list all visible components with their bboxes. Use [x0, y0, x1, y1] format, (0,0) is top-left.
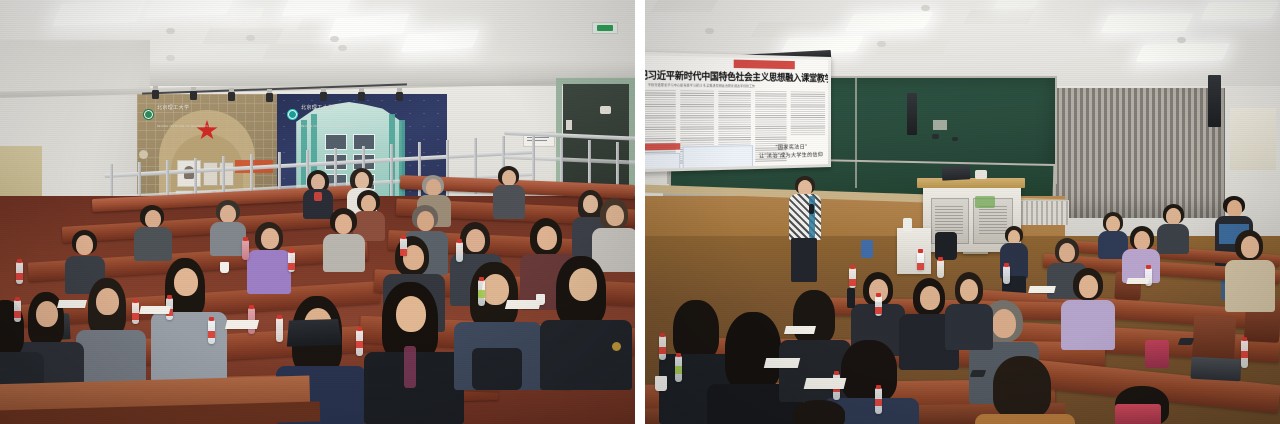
- university-logo-beige: 北京理工大学 BEIJING INSTITUTE OF TECHNOLOGY: [143, 96, 211, 132]
- security-camera-icon: [952, 137, 958, 141]
- ceiling-light-panel: [1136, 43, 1231, 61]
- university-logo-blue: 北京理工大学 BEIJING INSTITUTE OF TECHNOLOGY: [287, 96, 355, 132]
- newspaper-caption: "国家宪法日" 让"法治"成为大学生的信仰: [759, 144, 823, 161]
- water-bottle: [659, 336, 666, 360]
- spotlight-icon: [228, 92, 235, 101]
- laptop: [287, 319, 342, 347]
- right-photo-lecture-speaker: 把习近平新时代中国特色社会主义思想融入课堂教学 学校党委理论学习中心组专题学习研…: [645, 0, 1280, 424]
- notebook-paper: [57, 300, 87, 308]
- water-bottle: [937, 260, 944, 278]
- university-logo-subtext: BEIJING INSTITUTE OF TECHNOLOGY: [301, 125, 355, 128]
- water-bottle: [16, 262, 23, 284]
- microphone-icon: [809, 204, 814, 214]
- university-seal-icon: [143, 109, 154, 120]
- blackboard-divider: [855, 76, 857, 188]
- presenter-scarf: [809, 196, 815, 238]
- ceiling-speaker-icon: [166, 28, 175, 34]
- ceiling-sensor-icon: [705, 28, 714, 34]
- ceiling-tile: [202, 28, 284, 44]
- university-logo-text: 北京理工大学: [157, 105, 189, 111]
- wall-lamp-icon: [600, 106, 611, 114]
- water-bottle: [208, 320, 215, 344]
- spotlight-icon: [320, 92, 327, 101]
- notebook-paper: [139, 306, 171, 314]
- ceiling-tile: [876, 40, 950, 55]
- ceiling-light-panel: [1100, 13, 1193, 32]
- drink-bottle: [675, 356, 682, 382]
- newspaper-headline-row: 把习近平新时代中国特色社会主义思想融入课堂教学: [645, 69, 824, 84]
- ceiling-light-panel: [845, 12, 934, 32]
- ceiling-speaker-icon: [246, 35, 255, 41]
- lectern-monitor: [942, 165, 971, 180]
- green-book: [975, 196, 995, 208]
- water-bottle: [1003, 266, 1010, 284]
- blue-stool: [861, 240, 873, 258]
- exit-sign-icon: [592, 22, 618, 34]
- ceiling-sensor-icon: [166, 55, 175, 61]
- notebook-paper: [505, 300, 541, 309]
- photo-pair-composite: 北京理工大学 BEIJING INSTITUTE OF TECHNOLOGY 北…: [0, 0, 1280, 424]
- backpack: [472, 348, 522, 390]
- newspaper-subhead: 学校党委理论学习中心组专题学习研讨 扎实推进思想政治理论课改革创新工作: [648, 83, 818, 90]
- spotlight-icon: [358, 92, 365, 101]
- university-logo-subtext: BEIJING INSTITUTE OF TECHNOLOGY: [157, 125, 211, 128]
- water-bottle: [132, 302, 139, 324]
- water-bottle: [400, 238, 407, 256]
- ceiling-light-panel: [1201, 1, 1280, 19]
- water-bottle: [849, 268, 856, 288]
- spotlight-icon: [152, 90, 159, 99]
- presenter-trousers: [791, 238, 817, 282]
- spotlight-icon: [396, 92, 403, 101]
- water-bottle: [14, 300, 21, 322]
- notebook-paper: [225, 320, 259, 329]
- water-bottle: [456, 242, 463, 262]
- smartphone: [1178, 338, 1195, 345]
- notebook-paper: [784, 326, 816, 334]
- handbag: [1145, 340, 1169, 368]
- water-bottle: [288, 252, 295, 272]
- ceiling-sensor-icon: [877, 41, 886, 47]
- ceiling-tile: [1062, 60, 1128, 73]
- university-seal-icon: [287, 109, 298, 120]
- ceiling-tile: [751, 22, 828, 37]
- ceiling-speaker-icon: [338, 45, 347, 51]
- water-bottle: [875, 388, 882, 414]
- water-bottle: [917, 252, 924, 270]
- ceiling-light-panel: [230, 8, 265, 18]
- wall-speaker: [1208, 75, 1221, 127]
- paper-cup: [220, 262, 229, 273]
- lectern-top: [917, 178, 1025, 188]
- notebook-paper: [764, 358, 800, 368]
- newspaper-red-tag: [645, 143, 680, 150]
- drink-bottle: [478, 280, 485, 306]
- projected-newspaper-slide: 把习近平新时代中国特色社会主义思想融入课堂教学 学校党委理论学习中心组专题学习研…: [645, 55, 828, 169]
- ceiling-tile: [651, 0, 719, 12]
- smartphone: [970, 370, 987, 377]
- floor-bag: [935, 232, 957, 260]
- water-bottle: [276, 318, 283, 342]
- ceiling-tile: [262, 44, 335, 59]
- handbag: [1115, 404, 1161, 424]
- security-camera-icon: [932, 134, 939, 139]
- ceiling-speaker-icon: [921, 5, 930, 11]
- thermos-bottle: [847, 288, 855, 308]
- notebook-paper: [804, 378, 847, 389]
- water-bottle: [903, 218, 912, 232]
- spotlight-icon: [190, 91, 197, 100]
- blackboard-notice: [933, 120, 947, 130]
- newspaper-inset-box: [683, 145, 753, 169]
- spotlight-icon: [266, 93, 273, 102]
- ceiling-light-panel: [994, 0, 1040, 8]
- chair-seat: [1190, 357, 1241, 382]
- left-photo-lecture-audience: 北京理工大学 BEIJING INSTITUTE OF TECHNOLOGY 北…: [0, 0, 635, 424]
- ceiling-tile: [963, 10, 1034, 24]
- water-bottle: [356, 330, 363, 356]
- paper-cup: [655, 376, 667, 391]
- newspaper-column: [791, 92, 825, 137]
- side-cabinet: [897, 228, 931, 274]
- newspaper-masthead-accent: [734, 60, 795, 70]
- ceiling-speaker-icon: [1177, 37, 1186, 43]
- thermos-bottle: [242, 240, 249, 260]
- wall-speaker: [907, 93, 917, 135]
- university-logo-text: 北京理工大学: [301, 105, 333, 111]
- newspaper-inset-box: [645, 153, 680, 169]
- wall-ac-unit: [1230, 108, 1276, 170]
- notebook-paper: [1126, 278, 1149, 284]
- water-bottle: [1241, 340, 1248, 368]
- notebook-paper: [1028, 286, 1056, 293]
- ceiling-sensor-icon: [330, 36, 339, 42]
- water-bottle: [875, 296, 882, 316]
- door-switch-icon: [566, 120, 572, 130]
- newspaper-caption-line-2: 让"法治"成为大学生的信仰: [759, 152, 823, 161]
- projector-screen: 把习近平新时代中国特色社会主义思想融入课堂教学 学校党委理论学习中心组专题学习研…: [645, 52, 831, 173]
- lectern-paper: [975, 170, 987, 179]
